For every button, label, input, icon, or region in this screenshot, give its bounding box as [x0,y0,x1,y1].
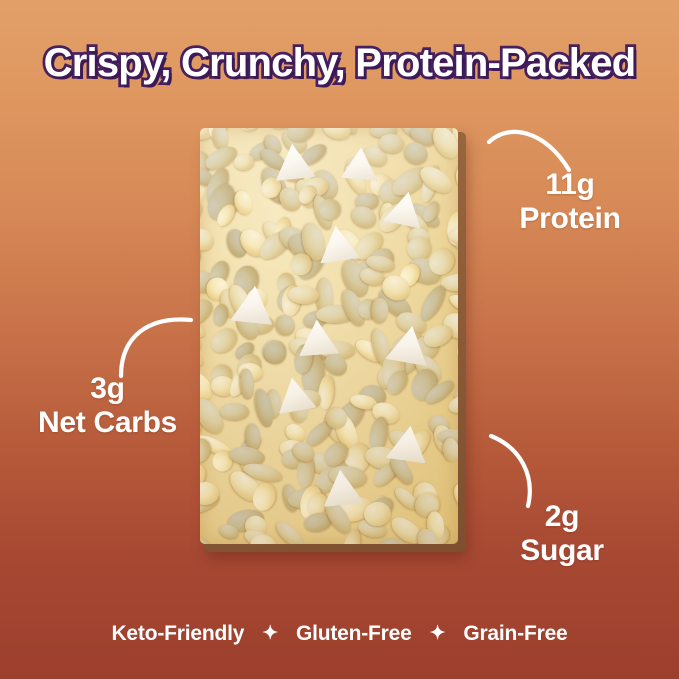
rice-puff [371,298,388,324]
callout-protein: 11g Protein [470,168,670,235]
product-image [200,128,462,548]
badge-grain-free: Grain-Free [463,622,567,646]
badge-gluten-free: Gluten-Free [296,622,412,646]
callout-net-carbs: 3g Net Carbs [0,372,215,439]
callout-net-carbs-value: 3g [0,372,215,406]
rice-puff [416,282,449,323]
rice-puff [273,312,298,339]
rice-puff [272,518,307,544]
sparkle-separator-icon: ✦ [262,624,278,643]
rice-puff [288,285,320,304]
callout-sugar-label: Sugar [462,534,662,568]
badge-keto-friendly: Keto-Friendly [111,622,244,646]
rice-puff [455,162,458,192]
rice-puff [200,354,204,369]
bar-top-surface [200,128,458,544]
page-title: Crispy, Crunchy, Protein-Packed [0,41,679,86]
rice-puff [442,437,458,463]
rice-puff [210,543,249,544]
callout-sugar-value: 2g [462,500,662,534]
rice-puff [220,403,250,420]
net-carbs-arc-icon [115,308,195,380]
rice-puff [200,225,217,254]
callout-net-carbs-label: Net Carbs [0,406,215,440]
rice-puff [233,128,265,135]
sparkle-separator-icon: ✦ [430,624,446,643]
callout-sugar: 2g Sugar [462,500,662,567]
rice-puff [320,128,353,142]
callout-protein-value: 11g [470,168,670,202]
rice-puff [456,354,458,387]
product-marketing-image: Crispy, Crunchy, Protein-Packed 11g Prot… [0,0,679,679]
sugar-arc-icon [487,432,549,510]
badge-row: Keto-Friendly ✦ Gluten-Free ✦ Grain-Free [0,622,679,646]
rice-puff [450,481,458,514]
callout-protein-label: Protein [470,202,670,236]
